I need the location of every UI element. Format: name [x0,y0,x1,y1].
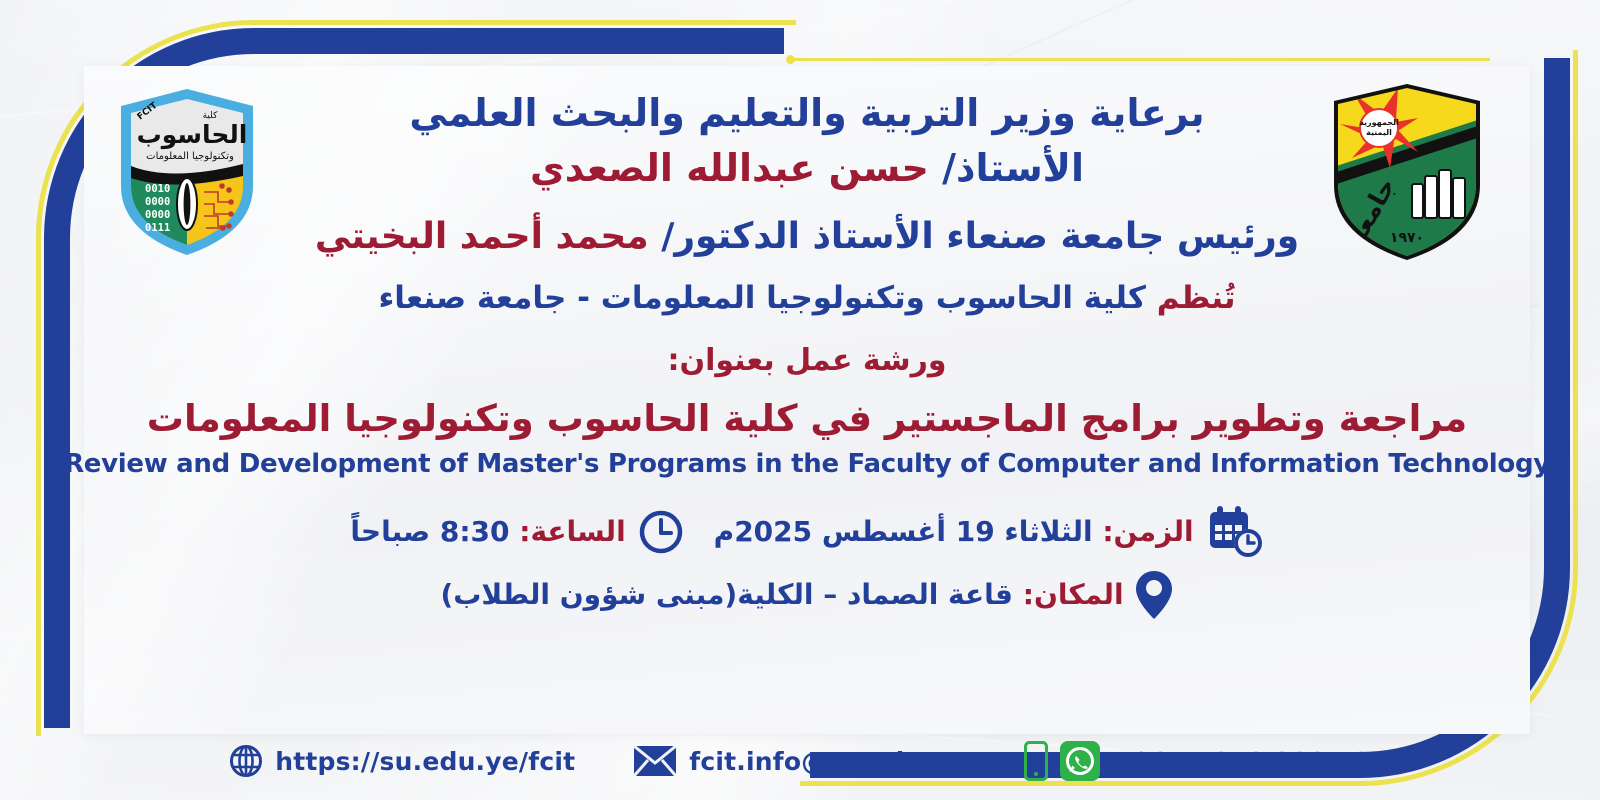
email-item[interactable]: fcit.info@su.edu.ye [633,745,966,777]
website-text[interactable]: https://su.edu.ye/fcit [275,747,575,776]
rector-name: محمد أحمد البخيتي [315,216,649,257]
email-text[interactable]: fcit.info@su.edu.ye [689,747,966,776]
phone-text[interactable]: +967 7810 329 72 [1112,747,1371,776]
calendar-clock-icon [1206,505,1264,559]
time-item: الساعة: 8:30 صباحاً [350,509,683,555]
place-text: المكان: قاعة الصماد – الكلية(مبنى شؤون ا… [440,579,1123,610]
organizer-verb: تُنظم [1157,280,1236,316]
mail-icon [633,745,677,777]
globe-icon [229,744,263,778]
workshop-title-english: Review and Development of Master's Progr… [64,449,1550,479]
place-label: المكان: [1023,578,1124,611]
contact-footer: https://su.edu.ye/fcit fcit.info@su.edu.… [0,730,1600,792]
patron-title: الأستاذ/ [942,146,1084,190]
patron-line: الأستاذ/ حسن عبدالله الصعدي [530,147,1084,190]
place-value: قاعة الصماد – الكلية(مبنى شؤون الطلاب) [440,578,1013,611]
time-value: 8:30 صباحاً [350,515,509,548]
place-row: المكان: قاعة الصماد – الكلية(مبنى شؤون ا… [440,569,1173,621]
mobile-phone-icon [1024,741,1048,781]
poster-canvas: FCIT كلية الحاسوب وتكنولوجيا المعلومات 0… [0,0,1600,800]
workshop-title-arabic: مراجعة وتطوير برامج الماجستير في كلية ال… [147,398,1467,439]
organizer-rest: كلية الحاسوب وتكنولوجيا المعلومات - جامع… [378,280,1146,316]
phone-item[interactable]: +967 7810 329 72 [1024,741,1371,781]
poster-content: برعاية وزير التربية والتعليم والبحث العل… [84,66,1530,734]
location-pin-icon [1134,569,1174,621]
patron-name: حسن عبدالله الصعدي [530,146,929,190]
clock-icon [638,509,684,555]
whatsapp-icon [1060,741,1100,781]
time-text: الساعة: 8:30 صباحاً [350,516,625,547]
date-value: الثلاثاء 19 أغسطس 2025م [714,515,1093,548]
frame-top-right-yellow-tick [790,58,1490,61]
date-label: الزمن: [1102,515,1193,548]
website-item[interactable]: https://su.edu.ye/fcit [229,744,575,778]
time-label: الساعة: [519,515,625,548]
rector-title: ورئيس جامعة صنعاء الأستاذ الدكتور/ [661,216,1299,257]
patronage-line: برعاية وزير التربية والتعليم والبحث العل… [409,92,1204,135]
organizer-line: تُنظم كلية الحاسوب وتكنولوجيا المعلومات … [378,281,1235,316]
date-item: الزمن: الثلاثاء 19 أغسطس 2025م [714,505,1264,559]
rector-line: ورئيس جامعة صنعاء الأستاذ الدكتور/ محمد … [315,217,1299,257]
date-time-row: الزمن: الثلاثاء 19 أغسطس 2025م الساعة: 8… [350,505,1263,559]
date-text: الزمن: الثلاثاء 19 أغسطس 2025م [714,516,1194,547]
workshop-label: ورشة عمل بعنوان: [667,344,946,378]
